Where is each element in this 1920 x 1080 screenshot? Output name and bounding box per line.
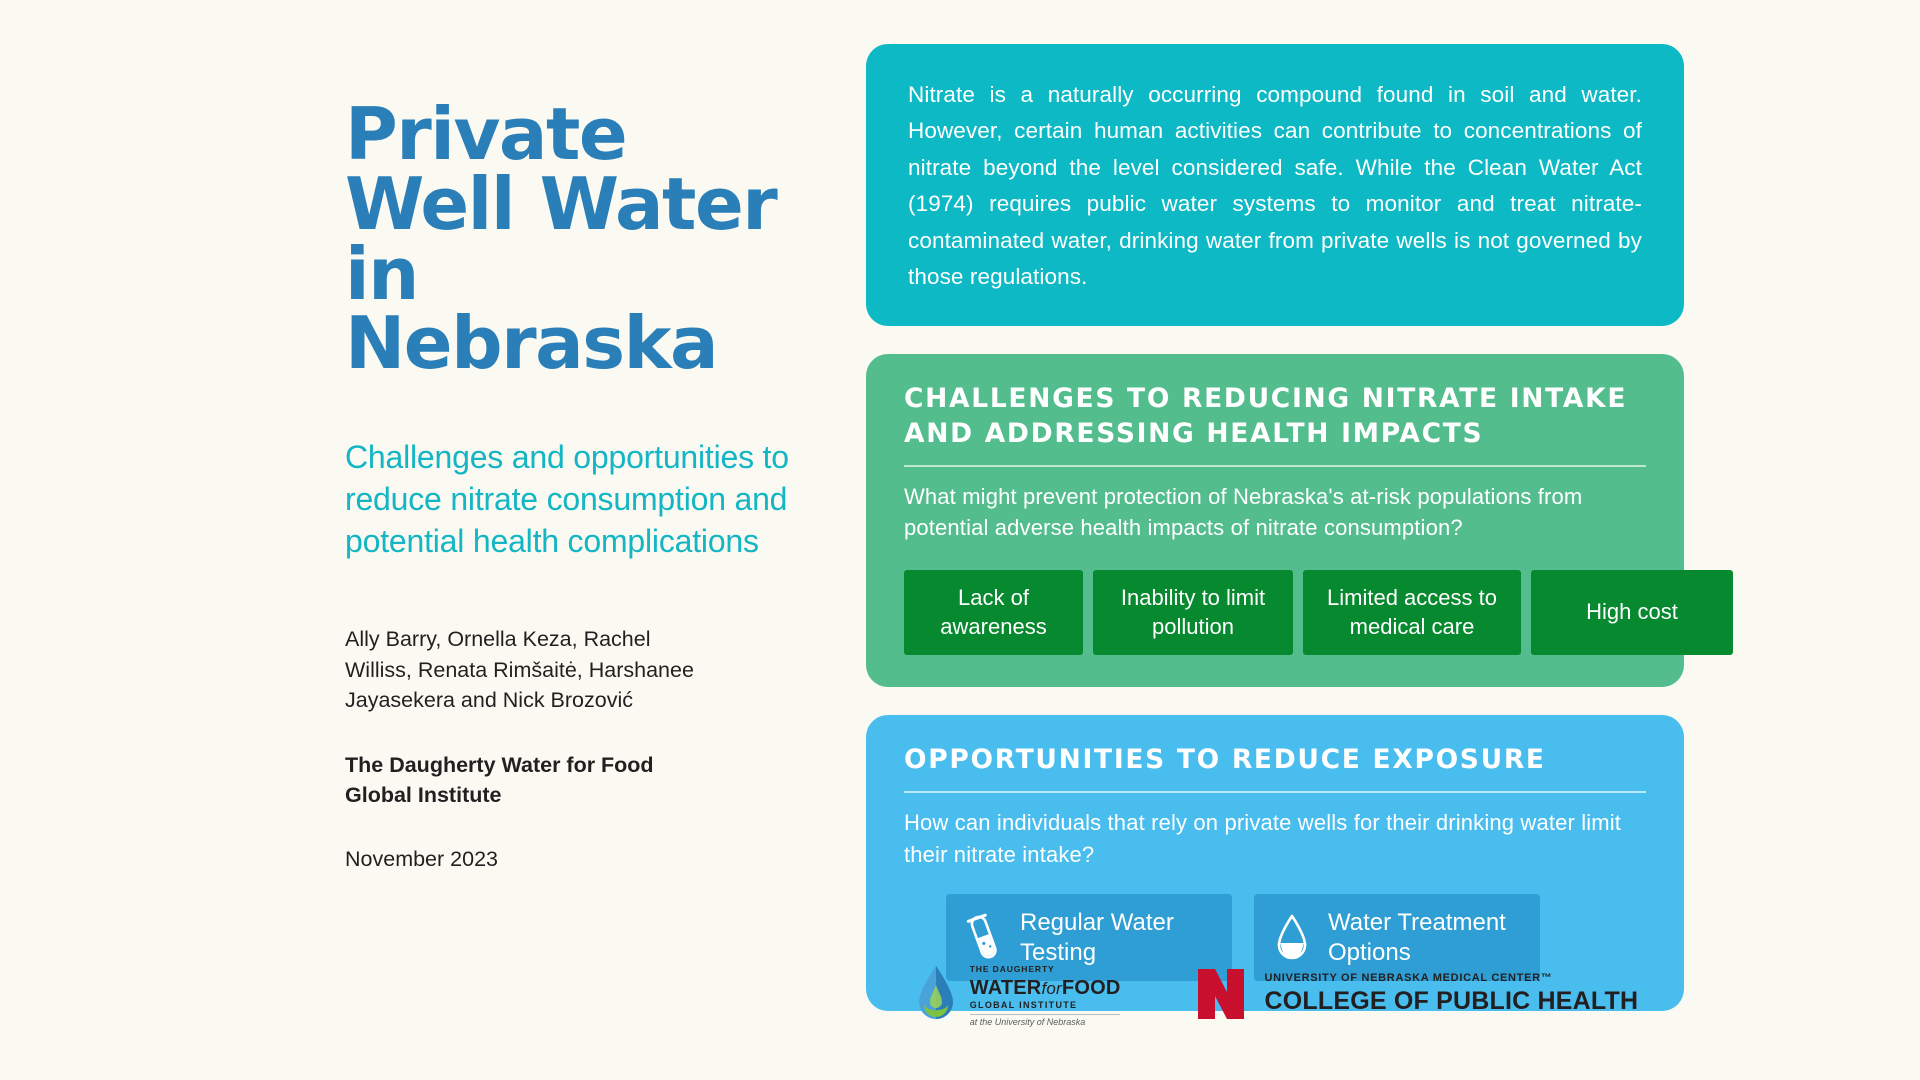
wff-logo-line4: at the University of Nebraska (970, 1018, 1121, 1027)
test-tube-icon (964, 910, 1004, 966)
wff-logo-line1: THE DAUGHERTY (970, 964, 1055, 974)
wff-word-water: WATER (970, 977, 1042, 999)
divider (904, 465, 1646, 467)
opportunity-tile-label: Regular Water Testing (1020, 908, 1210, 967)
intro-card-body: Nitrate is a naturally occurring compoun… (908, 77, 1642, 296)
wff-word-for: for (1041, 979, 1061, 998)
challenges-card: Challenges to reducing nitrate intake an… (866, 354, 1684, 687)
water-for-food-wordmark: THE DAUGHERTY WATERforFOOD GLOBAL INSTIT… (970, 960, 1121, 1027)
water-drop-icon (1272, 910, 1312, 966)
author-list: Ally Barry, Ornella Keza, Rachel Williss… (345, 624, 720, 716)
challenge-pill-row: Lack of awareness Inability to limit pol… (904, 570, 1646, 654)
opportunities-card-question: How can individuals that rely on private… (904, 807, 1646, 871)
title-block: Private Well Water in Nebraska Challenge… (345, 100, 815, 874)
challenge-pill[interactable]: High cost (1531, 570, 1733, 654)
opportunities-card-heading: Opportunities to reduce exposure (904, 743, 1646, 778)
logo-row: THE DAUGHERTY WATERforFOOD GLOBAL INSTIT… (866, 960, 1684, 1027)
challenges-card-question: What might prevent protection of Nebrask… (904, 481, 1646, 545)
opportunity-tile-label: Water Treatment Options (1328, 908, 1518, 967)
challenge-pill[interactable]: Limited access to medical care (1303, 570, 1521, 654)
divider (904, 791, 1646, 793)
cards-column: Nitrate is a naturally occurring compoun… (866, 44, 1684, 1021)
wff-logo-line2: WATERforFOOD (970, 978, 1121, 998)
water-for-food-logo: THE DAUGHERTY WATERforFOOD GLOBAL INSTIT… (912, 960, 1121, 1027)
challenges-card-heading: Challenges to reducing nitrate intake an… (904, 382, 1646, 452)
page-subtitle: Challenges and opportunities to reduce n… (345, 437, 805, 562)
water-drop-logo-icon (912, 963, 960, 1025)
wff-logo-line3: GLOBAL INSTITUTE (970, 1001, 1121, 1010)
challenge-pill[interactable]: Lack of awareness (904, 570, 1083, 654)
unmc-logo-line1: UNIVERSITY OF NEBRASKA MEDICAL CENTER™ (1264, 973, 1638, 984)
wff-logo-divider (970, 1014, 1121, 1015)
challenge-pill[interactable]: Inability to limit pollution (1093, 570, 1293, 654)
institute-name: The Daugherty Water for Food Global Inst… (345, 750, 705, 810)
unmc-wordmark: UNIVERSITY OF NEBRASKA MEDICAL CENTER™ C… (1264, 973, 1638, 1014)
wff-word-food: FOOD (1062, 977, 1121, 999)
unmc-logo-line2: COLLEGE OF PUBLIC HEALTH (1264, 989, 1638, 1014)
unmc-college-of-public-health-logo: UNIVERSITY OF NEBRASKA MEDICAL CENTER™ C… (1192, 965, 1638, 1023)
poster-page: Private Well Water in Nebraska Challenge… (0, 0, 1920, 1080)
publication-date: November 2023 (345, 844, 815, 874)
nebraska-n-icon (1192, 965, 1250, 1023)
page-title: Private Well Water in Nebraska (345, 100, 815, 379)
intro-card: Nitrate is a naturally occurring compoun… (866, 44, 1684, 326)
